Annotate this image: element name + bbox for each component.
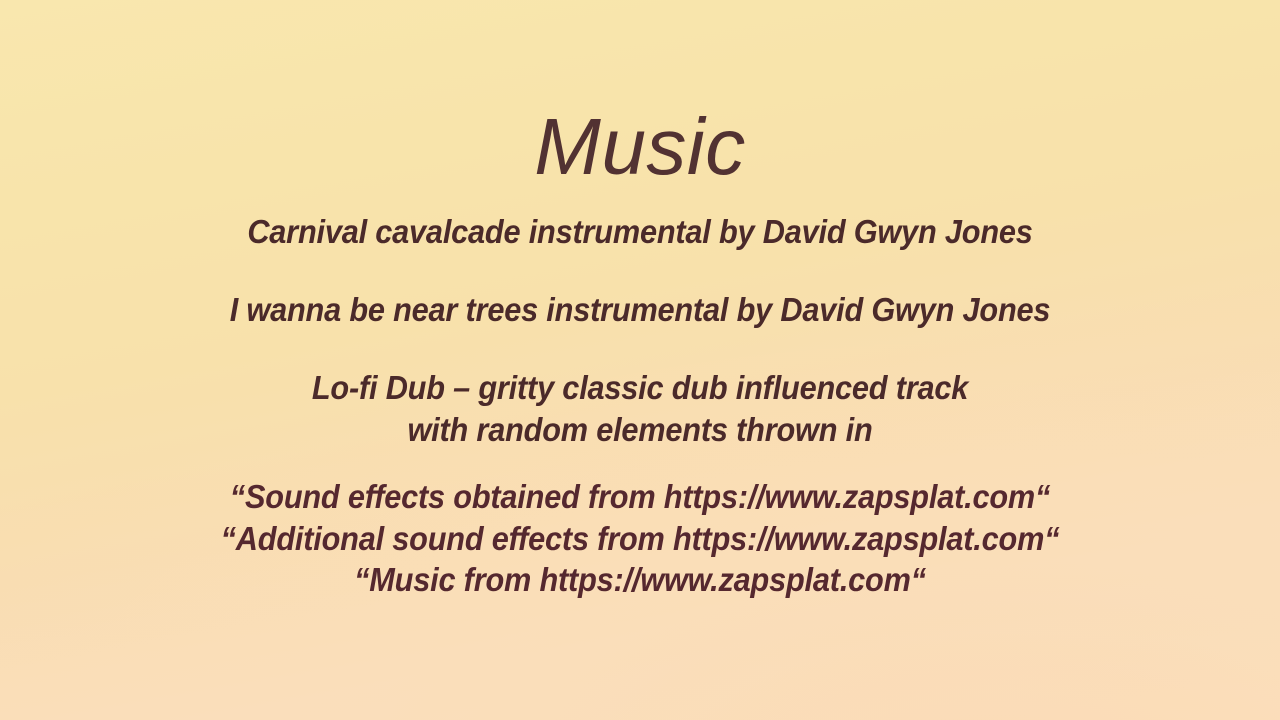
attribution-line-2: “Additional sound effects from https://w… [45,518,1235,560]
music-track-line-2: I wanna be near trees instrumental by Da… [45,289,1235,331]
credits-content: Music Carnival cavalcade instrumental by… [0,0,1280,720]
credits-screen: Music Carnival cavalcade instrumental by… [0,0,1280,720]
page-title: Music [0,99,1280,195]
music-track-line-1: Carnival cavalcade instrumental by David… [45,211,1235,253]
music-track-line-3: Lo-fi Dub – gritty classic dub influence… [45,367,1235,409]
music-track-line-4: with random elements thrown in [45,409,1235,451]
attribution-line-3: “Music from https://www.zapsplat.com“ [45,559,1235,601]
attribution-line-1: “Sound effects obtained from https://www… [45,476,1235,518]
